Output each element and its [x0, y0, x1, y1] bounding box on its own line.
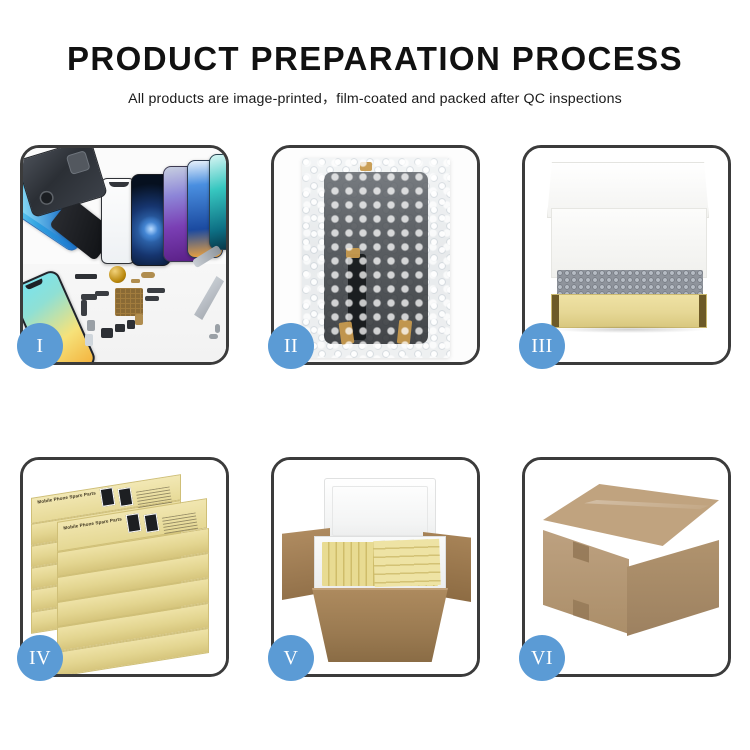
box-shadow: [553, 326, 705, 333]
component-chip-icon: [75, 274, 97, 279]
step-numeral: VI: [531, 647, 553, 670]
box-label-thumbnail: [118, 487, 134, 507]
box-label-thumbnail: [126, 513, 142, 533]
phone-back-housing-icon: [23, 148, 108, 218]
foam-lid-icon: [324, 478, 436, 544]
box-label-text: Mobile Phone Spare Parts: [63, 516, 122, 530]
step-panel-2[interactable]: II: [271, 145, 480, 365]
box-label-thumbnail: [144, 513, 160, 533]
box-printed-label: Mobile Phone Spare Parts: [63, 514, 197, 532]
component-chip-icon: [101, 328, 113, 338]
packed-boxes-row-icon: [373, 539, 441, 587]
box-label-text: Mobile Phone Spare Parts: [37, 490, 96, 504]
step-badge-2: II: [268, 323, 314, 369]
box-edge-right: [699, 295, 706, 327]
bubble-texture: [302, 158, 450, 358]
flex-cable-icon: [95, 291, 109, 296]
step-panel-6[interactable]: VI: [522, 457, 731, 677]
step-badge-1: I: [17, 323, 63, 369]
step-badge-6: VI: [519, 635, 565, 681]
teal-swirl-phone-icon: [209, 154, 226, 250]
component-chip-icon: [131, 279, 140, 283]
component-chip-icon: [115, 324, 125, 332]
flex-cable-icon: [81, 300, 87, 316]
copper-keypad-icon: [115, 288, 143, 316]
component-chip-icon: [135, 314, 143, 325]
step-numeral: II: [284, 335, 298, 358]
bubble-wrap-bag: [302, 158, 450, 358]
step-numeral: IV: [29, 647, 51, 670]
component-screw-icon: [215, 324, 220, 333]
flex-cable-icon: [147, 288, 165, 293]
component-chip-icon: [141, 272, 155, 278]
step-badge-4: IV: [17, 635, 63, 681]
step-numeral: V: [284, 647, 299, 670]
box-edge-left: [552, 295, 559, 327]
component-chip-icon: [127, 320, 135, 329]
box-printed-label: Mobile Phone Spare Parts: [37, 488, 171, 506]
box-front-wall-icon: [551, 294, 707, 328]
step-numeral: I: [36, 335, 43, 358]
copper-connector-icon: [109, 266, 126, 283]
component-chip-icon: [85, 334, 93, 346]
camera-lens-icon: [40, 191, 54, 205]
carton-right-face: [627, 540, 719, 636]
component-screw-icon: [209, 334, 218, 339]
step-badge-5: V: [268, 635, 314, 681]
step-badge-3: III: [519, 323, 565, 369]
carton-top-face: [543, 484, 719, 546]
box-back-wall-icon: [551, 208, 707, 278]
foam-lid-groove: [332, 486, 428, 536]
step-panel-5[interactable]: V: [271, 457, 480, 677]
component-chip-icon: [87, 320, 95, 331]
brown-carton-body: [312, 588, 448, 662]
box-label-spec-lines: [162, 512, 198, 534]
step-panel-1[interactable]: I: [20, 145, 229, 365]
header: PRODUCT PREPARATION PROCESS All products…: [0, 0, 750, 108]
step-numeral: III: [531, 335, 552, 358]
page-subtitle: All products are image-printed，film-coat…: [0, 77, 750, 108]
box-stack: Mobile Phone Spare Parts Mobile Phone Sp…: [29, 478, 226, 668]
flex-cable-icon: [145, 296, 159, 301]
box-label-thumbnail: [100, 487, 116, 507]
page-title: PRODUCT PREPARATION PROCESS: [0, 0, 750, 77]
step-panel-4[interactable]: Mobile Phone Spare Parts Mobile Phone Sp…: [20, 457, 229, 677]
process-steps-grid: I II: [20, 145, 732, 677]
step-panel-3[interactable]: III: [522, 145, 731, 365]
product-preparation-infographic: PRODUCT PREPARATION PROCESS All products…: [0, 0, 750, 750]
